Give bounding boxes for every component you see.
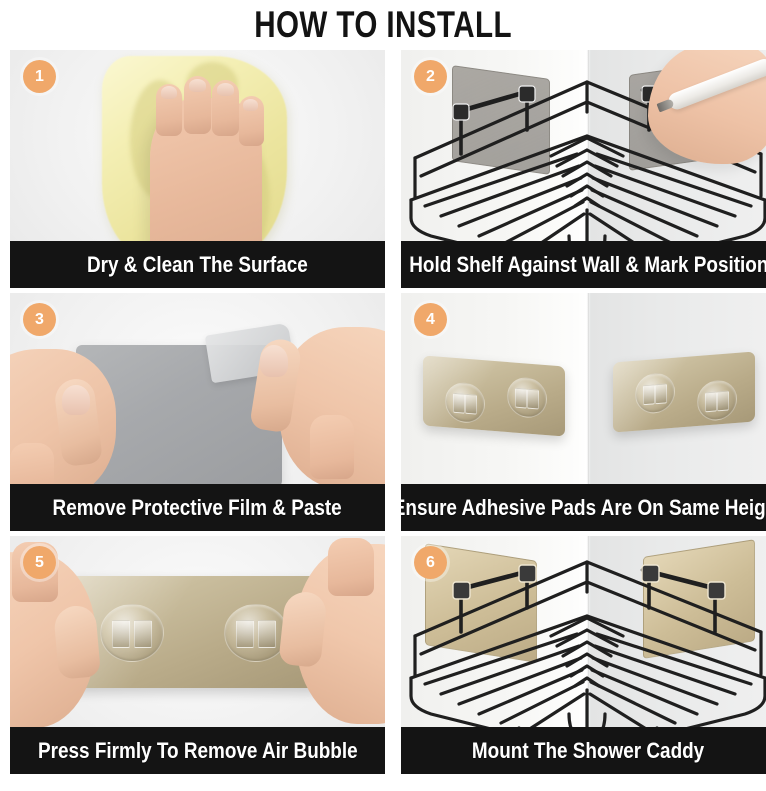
step-number-6: 6 [426, 554, 435, 572]
adhesive-pad-left [423, 355, 565, 436]
step-caption-2: Hold Shelf Against Wall & Mark Position [409, 252, 766, 278]
hook-emboss-left [100, 604, 164, 662]
step-number-4: 4 [426, 311, 435, 329]
step-panel-1: 1 Dry & Clean The Surface [10, 50, 385, 288]
hook-emboss [507, 376, 547, 419]
step-caption-bar-2: Hold Shelf Against Wall & Mark Position [401, 241, 766, 288]
step-panel-2: 2 Hold Shelf Against Wall & Mark Positio… [401, 50, 766, 288]
hook-emboss [445, 381, 485, 424]
step-number-5: 5 [35, 554, 44, 572]
fingernail [217, 83, 234, 96]
step-panel-4: 4 Ensure Adhesive Pads Are On Same Heigh… [401, 293, 766, 531]
step-number-badge-5: 5 [23, 546, 56, 579]
fingernail [243, 99, 258, 111]
step-caption-5: Press Firmly To Remove Air Bubble [38, 738, 358, 764]
step-caption-bar-3: Remove Protective Film & Paste [10, 484, 385, 531]
step-panel-3: 3 Remove Protective Film & Paste [10, 293, 385, 531]
step-number-badge-1: 1 [23, 60, 56, 93]
step-number-badge-6: 6 [414, 546, 447, 579]
step-caption-3: Remove Protective Film & Paste [53, 495, 342, 521]
install-steps-grid: 1 Dry & Clean The Surface [0, 50, 766, 774]
fingernail [189, 79, 206, 92]
finger [328, 538, 374, 596]
step-caption-4: Ensure Adhesive Pads Are On Same Height [401, 495, 766, 521]
step-number-badge-3: 3 [23, 303, 56, 336]
hook-emboss [635, 372, 675, 415]
thumbnail-left [62, 385, 90, 415]
step-number-2: 2 [426, 68, 435, 86]
step-panel-5: 5 Press Firmly To Remove Air Bubble [10, 536, 385, 774]
page-title: HOW TO INSTALL [0, 0, 766, 50]
step-caption-6: Mount The Shower Caddy [472, 738, 704, 764]
step-caption-bar-4: Ensure Adhesive Pads Are On Same Height [401, 484, 766, 531]
step-number-1: 1 [35, 68, 44, 86]
thumbnail-right [260, 345, 288, 377]
thumb-left [53, 604, 101, 679]
hook-emboss [697, 379, 737, 422]
finger [310, 415, 354, 479]
hook-emboss-right [224, 604, 288, 662]
step-caption-1: Dry & Clean The Surface [87, 252, 308, 278]
step-panel-6: 6 Mount The Shower Caddy [401, 536, 766, 774]
step-caption-bar-6: Mount The Shower Caddy [401, 727, 766, 774]
adhesive-pad-right [613, 351, 755, 432]
step-caption-bar-1: Dry & Clean The Surface [10, 241, 385, 288]
page-title-text: HOW TO INSTALL [254, 4, 512, 46]
fingernail [161, 86, 177, 99]
step-number-badge-4: 4 [414, 303, 447, 336]
step-number-3: 3 [35, 311, 44, 329]
step-number-badge-2: 2 [414, 60, 447, 93]
step-caption-bar-5: Press Firmly To Remove Air Bubble [10, 727, 385, 774]
